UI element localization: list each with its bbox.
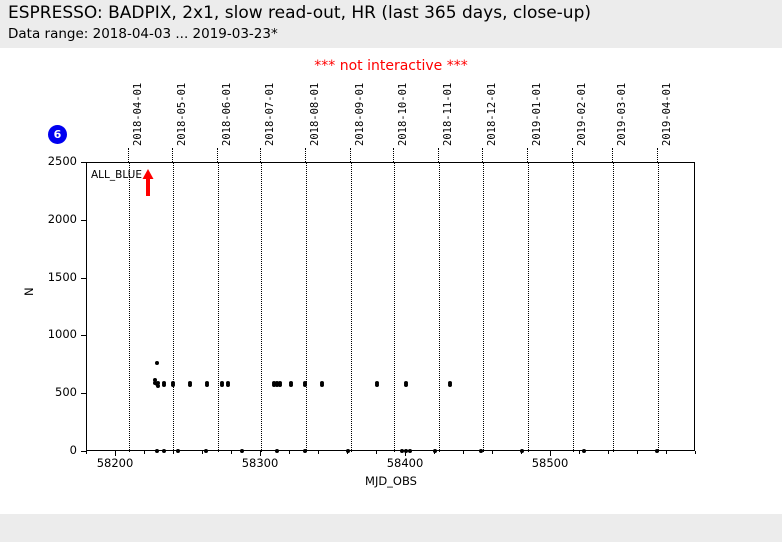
data-point [220, 383, 224, 387]
x-minor-tick-mark [492, 451, 493, 454]
x-minor-tick-mark [608, 451, 609, 454]
x-minor-tick-mark [550, 451, 551, 454]
data-point [448, 383, 452, 387]
date-label: 2018-10-01 [397, 83, 409, 146]
footer-bar [0, 514, 782, 542]
data-point [155, 449, 159, 453]
gridline-stub [350, 148, 351, 162]
gridline [129, 163, 130, 452]
gridline [483, 163, 484, 452]
y-tick-label: 2000 [33, 212, 77, 226]
date-label: 2018-07-01 [264, 83, 276, 146]
gridline-stub [305, 148, 306, 162]
gridline [173, 163, 174, 452]
x-minor-tick-mark [695, 451, 696, 454]
y-tick-label: 500 [33, 385, 77, 399]
gridline-stub [612, 148, 613, 162]
x-minor-tick-mark [579, 451, 580, 454]
x-minor-tick-mark [231, 451, 232, 454]
header-bar: ESPRESSO: BADPIX, 2x1, slow read-out, HR… [0, 0, 782, 48]
y-axis-label: N [22, 287, 36, 296]
x-minor-tick-mark [637, 451, 638, 454]
data-point [433, 449, 437, 453]
all-blue-annotation: ALL_BLUE [91, 169, 142, 181]
gridline-stub [217, 148, 218, 162]
data-point [375, 383, 379, 387]
x-tick-label: 58300 [230, 456, 290, 470]
date-label: 2019-02-01 [576, 83, 588, 146]
data-point [162, 383, 166, 387]
gridline [351, 163, 352, 452]
scatter-plot-area: ALL_BLUE [86, 162, 695, 451]
data-point [155, 361, 159, 365]
x-minor-tick-mark [289, 451, 290, 454]
y-tick-label: 1500 [33, 270, 77, 284]
gridline [573, 163, 574, 452]
gridline [658, 163, 659, 452]
data-point [204, 449, 208, 453]
not-interactive-notice: *** not interactive *** [0, 58, 782, 74]
data-point [176, 449, 180, 453]
data-point [320, 383, 324, 387]
gridline-stub [572, 148, 573, 162]
data-point [303, 383, 307, 387]
data-point [582, 449, 586, 453]
gridline-stub [128, 148, 129, 162]
y-tick-label: 1000 [33, 327, 77, 341]
gridline [613, 163, 614, 452]
x-minor-tick-mark [666, 451, 667, 454]
gridline [394, 163, 395, 452]
gridline-stub [260, 148, 261, 162]
date-label: 2019-01-01 [531, 83, 543, 146]
x-minor-tick-mark [376, 451, 377, 454]
data-point [162, 449, 166, 453]
y-tick-label: 0 [33, 443, 77, 457]
date-label: 2018-09-01 [354, 83, 366, 146]
x-minor-tick-mark [202, 451, 203, 454]
date-label: 2018-12-01 [486, 83, 498, 146]
gridline [528, 163, 529, 452]
date-label: 2018-08-01 [309, 83, 321, 146]
x-minor-tick-mark [144, 451, 145, 454]
gridline-stub [482, 148, 483, 162]
gridline [218, 163, 219, 452]
data-point [156, 384, 160, 388]
date-label: 2018-06-01 [221, 83, 233, 146]
gridline [439, 163, 440, 452]
data-point [226, 383, 230, 387]
data-point [188, 383, 192, 387]
page-title: ESPRESSO: BADPIX, 2x1, slow read-out, HR… [8, 3, 591, 23]
y-tick-label: 2500 [33, 154, 77, 168]
status-badge[interactable]: 6 [48, 125, 67, 144]
data-point [303, 449, 307, 453]
data-point [408, 449, 412, 453]
gridline [261, 163, 262, 452]
gridline-stub [438, 148, 439, 162]
x-tick-label: 58500 [520, 456, 580, 470]
data-point [346, 449, 350, 453]
data-point [520, 449, 524, 453]
date-label: 2019-03-01 [616, 83, 628, 146]
gridline-stub [527, 148, 528, 162]
gridline-stub [172, 148, 173, 162]
gridline-stub [657, 148, 658, 162]
x-tick-label: 58400 [375, 456, 435, 470]
gridline [306, 163, 307, 452]
gridline-stub [393, 148, 394, 162]
red-up-arrow-icon [142, 169, 154, 197]
data-point [240, 449, 244, 453]
data-point [479, 449, 483, 453]
date-label: 2018-04-01 [132, 83, 144, 146]
x-minor-tick-mark [86, 451, 87, 454]
date-label: 2018-05-01 [176, 83, 188, 146]
data-point [404, 383, 408, 387]
data-point [655, 449, 659, 453]
data-point [278, 383, 282, 387]
x-minor-tick-mark [318, 451, 319, 454]
data-point [275, 449, 279, 453]
data-point [171, 383, 175, 387]
data-point [205, 383, 209, 387]
x-minor-tick-mark [463, 451, 464, 454]
date-label: 2018-11-01 [442, 83, 454, 146]
date-label: 2019-04-01 [661, 83, 673, 146]
data-range-subtitle: Data range: 2018-04-03 ... 2019-03-23* [8, 26, 278, 42]
x-tick-label: 58200 [85, 456, 145, 470]
data-point [289, 383, 293, 387]
x-axis-label: MJD_OBS [0, 474, 782, 488]
x-minor-tick-mark [115, 451, 116, 454]
